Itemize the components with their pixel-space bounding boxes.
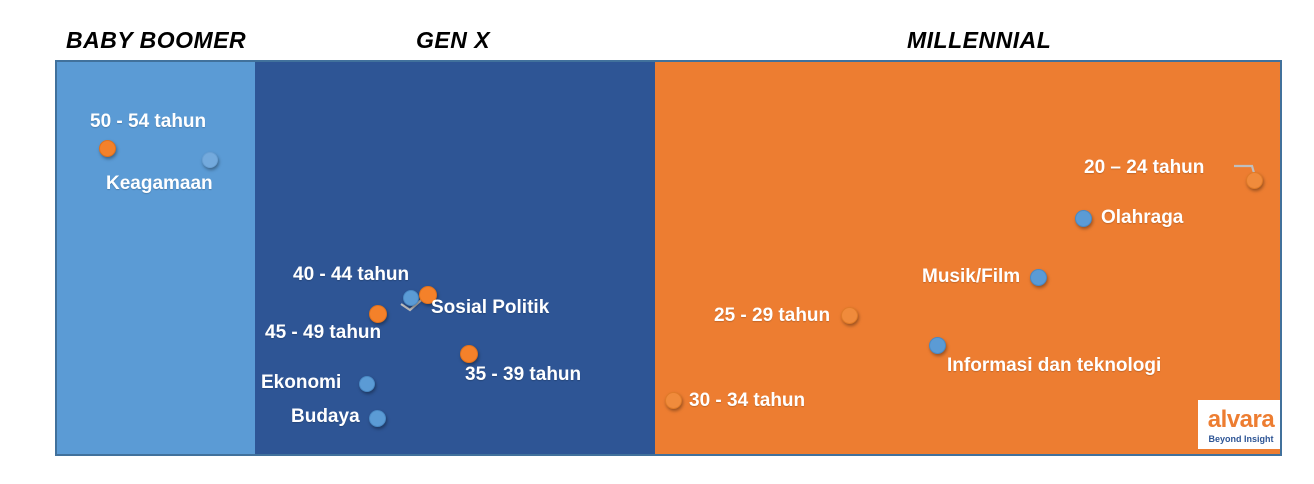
label-topic-budaya: Budaya xyxy=(291,407,360,426)
marker-topic-ekonomi[interactable] xyxy=(359,376,375,392)
marker-topic-olahraga[interactable] xyxy=(1075,210,1092,227)
marker-age-30-34[interactable] xyxy=(665,392,682,409)
label-age-35-39: 35 - 39 tahun xyxy=(465,365,581,384)
marker-age-20-24[interactable] xyxy=(1246,172,1263,189)
label-age-30-34: 30 - 34 tahun xyxy=(689,391,805,410)
label-topic-keagamaan: Keagamaan xyxy=(106,174,213,193)
label-age-50-54: 50 - 54 tahun xyxy=(90,112,206,131)
label-topic-olahraga: Olahraga xyxy=(1101,208,1183,227)
marker-age-50-54[interactable] xyxy=(99,140,116,157)
alvara-logo: alvara Beyond Insight xyxy=(1198,400,1282,449)
marker-topic-keagamaan[interactable] xyxy=(202,152,218,168)
header-gen-x: GEN X xyxy=(416,27,490,54)
marker-age-45-49[interactable] xyxy=(369,305,387,323)
label-age-25-29: 25 - 29 tahun xyxy=(714,306,830,325)
marker-topic-informasi[interactable] xyxy=(929,337,946,354)
label-age-45-49: 45 - 49 tahun xyxy=(265,323,381,342)
label-topic-musik-film: Musik/Film xyxy=(922,267,1020,286)
marker-topic-sosial-politik[interactable] xyxy=(403,290,419,306)
header-baby-boomer: BABY BOOMER xyxy=(66,27,246,54)
chart-canvas: BABY BOOMER GEN X MILLENNIAL 50 - 54 tah… xyxy=(0,0,1314,484)
marker-topic-budaya[interactable] xyxy=(369,410,386,427)
label-topic-informasi: Informasi dan teknologi xyxy=(947,356,1161,375)
label-age-40-44: 40 - 44 tahun xyxy=(293,265,409,284)
label-topic-sosial-politik: Sosial Politik xyxy=(431,298,549,317)
logo-wordmark: alvara xyxy=(1208,408,1274,432)
panel-gen-x xyxy=(255,62,655,454)
marker-topic-musik-film[interactable] xyxy=(1030,269,1047,286)
header-millennial: MILLENNIAL xyxy=(907,27,1051,54)
label-age-20-24: 20 – 24 tahun xyxy=(1084,158,1204,177)
label-topic-ekonomi: Ekonomi xyxy=(261,373,341,392)
marker-age-25-29[interactable] xyxy=(841,307,858,324)
logo-tagline: Beyond Insight xyxy=(1209,435,1274,444)
marker-age-35-39[interactable] xyxy=(460,345,478,363)
generation-chart: 50 - 54 tahun Keagamaan 40 - 44 tahun So… xyxy=(55,60,1282,456)
